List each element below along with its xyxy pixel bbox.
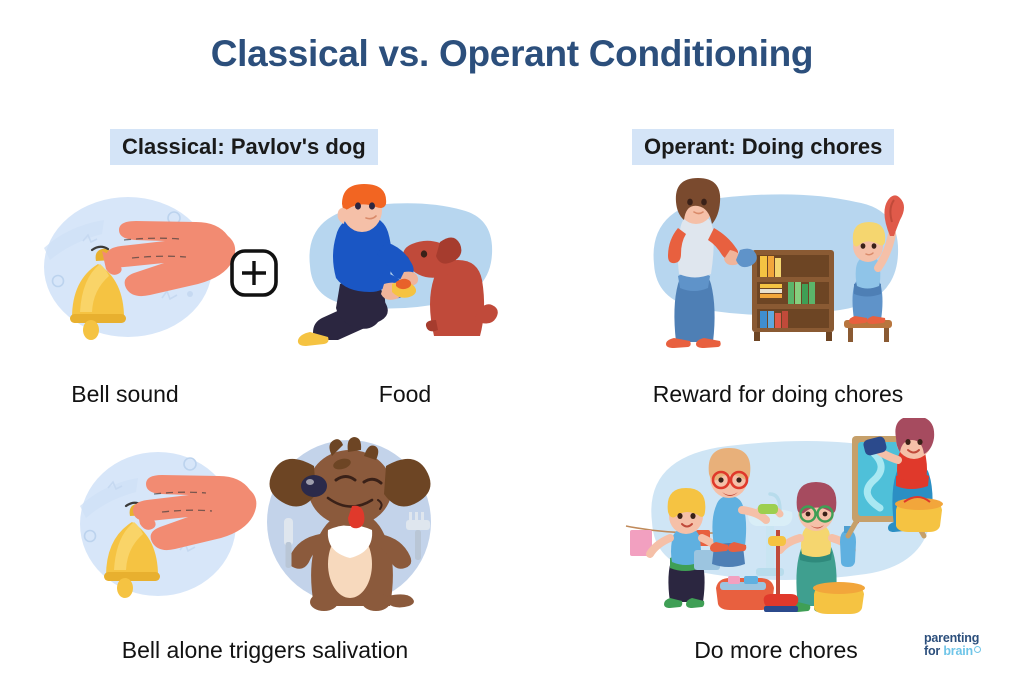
logo-dot-icon <box>974 646 981 653</box>
brand-logo: parenting for brain <box>924 632 1016 666</box>
hand-ringing-bell-icon <box>28 188 238 346</box>
children-doing-chores-icon <box>608 418 944 622</box>
caption-reward-for-doing-chores: Reward for doing chores <box>588 381 968 408</box>
caption-bell-sound: Bell sound <box>0 381 250 408</box>
infographic-canvas: Classical vs. Operant Conditioning Class… <box>0 0 1024 683</box>
caption-food: Food <box>280 381 530 408</box>
man-feeding-dog-icon <box>288 180 500 348</box>
logo-line-two: for brain <box>924 645 1016 658</box>
column-header-operant: Operant: Doing chores <box>632 129 894 165</box>
plus-icon <box>228 247 280 299</box>
caption-bell-alone-triggers-salivation: Bell alone triggers salivation <box>40 637 490 664</box>
logo-for-text: for <box>924 644 943 658</box>
page-title: Classical vs. Operant Conditioning <box>0 33 1024 75</box>
caption-do-more-chores: Do more chores <box>608 637 944 664</box>
hand-ringing-bell-icon <box>62 438 258 610</box>
dog-with-knife-and-fork-icon <box>252 430 446 614</box>
mother-and-child-cleaning-bookshelf-icon <box>628 172 924 352</box>
column-header-classical: Classical: Pavlov's dog <box>110 129 378 165</box>
logo-brain-text: brain <box>943 644 973 658</box>
